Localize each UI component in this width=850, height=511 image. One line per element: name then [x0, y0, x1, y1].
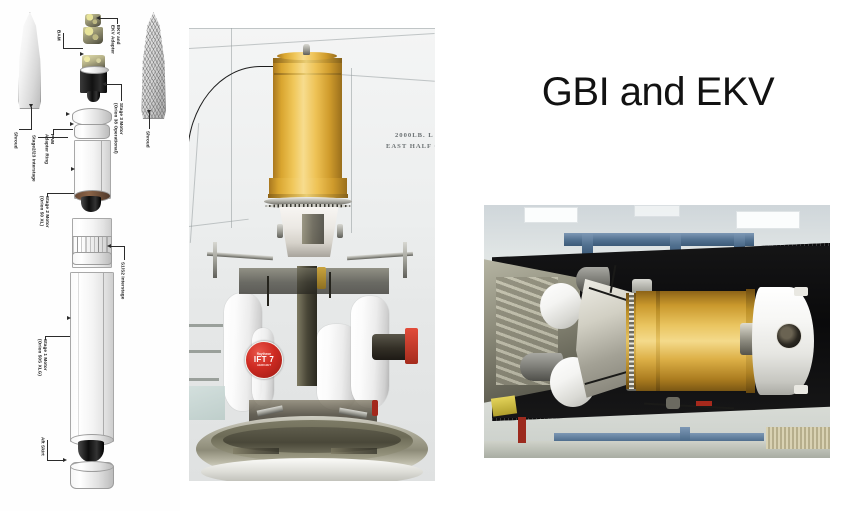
support-post-right — [403, 242, 407, 278]
ceiling-light-3 — [634, 205, 680, 217]
stage1-seam-2 — [78, 273, 79, 439]
badge-bottom-text: AEROJET — [257, 364, 271, 367]
stage1-motor-body — [70, 272, 114, 442]
arrowhead-bam — [80, 52, 84, 56]
ceiling-light-1 — [524, 207, 578, 223]
label-bam: BAM — [56, 30, 62, 41]
arrowhead-ekv — [96, 16, 100, 20]
leader-stage3 — [105, 84, 121, 85]
bus-fitting-right — [337, 224, 343, 238]
harness-cable-2 — [329, 272, 331, 298]
grating-panel — [766, 427, 830, 449]
photo-ekv-kill-vehicle — [484, 205, 830, 458]
gold-canister-body — [636, 291, 754, 391]
stage3-nozzle — [87, 91, 100, 102]
stage1-nozzle — [78, 440, 104, 462]
harness-cable-1 — [267, 276, 269, 306]
stage2-seam — [101, 141, 102, 196]
s1s2-interstage-lowerring — [72, 252, 112, 265]
lower-red-fitting — [372, 400, 378, 416]
leader-aftskirt-v — [47, 440, 48, 460]
arrowhead-stage23 — [66, 112, 70, 116]
leader-shroud-left-v — [31, 107, 32, 130]
label-pam-adapter-ring: PAM Adapter Ring — [44, 134, 55, 164]
label-ekv-and-ekv-adapter: EKV and EKV Adapter — [110, 25, 121, 54]
label-aft-skirt: Aft Skirt — [40, 437, 46, 456]
gold-mid-seam — [656, 291, 660, 391]
seeker-window — [776, 323, 802, 349]
wall-seam-5 — [351, 68, 352, 233]
arrowhead-stage2 — [71, 167, 75, 171]
background-shelf-3 — [189, 378, 219, 381]
gold-canister — [273, 58, 342, 194]
exploded-view-diagram: Shroud Shroud EKV and EKV Adapter BAM St… — [0, 0, 180, 511]
bus-dark-panel-1 — [302, 214, 324, 244]
hoist-hook — [317, 267, 326, 289]
gold-canister-lid-seam — [274, 73, 341, 75]
shroud-right-half — [141, 12, 166, 119]
wall-seam-1 — [189, 28, 435, 29]
background-shelf-2 — [189, 350, 221, 353]
red-ground-strap — [696, 401, 712, 406]
red-stand-leg — [518, 417, 526, 443]
lower-cable-connector — [666, 397, 680, 409]
leader-s1s2-v — [124, 246, 125, 260]
label-stage2-motor: Stage 2 Motor (Orion 50 XL) — [39, 196, 50, 228]
leader-pam — [53, 129, 73, 130]
base-clamp-left — [233, 448, 279, 454]
ift7-badge: Raytheon IFT 7 AEROJET — [245, 341, 283, 379]
label-s1s2-interstage: S1/S2 Interstage — [120, 262, 126, 299]
upper-harness-block — [239, 268, 389, 294]
kv-tank-upper — [540, 283, 582, 329]
background-glass-panel — [189, 386, 225, 420]
leader-bam — [63, 48, 83, 49]
stage23-interstage-body — [74, 124, 110, 139]
stage1-seam — [103, 273, 104, 439]
dome-tab-top — [794, 287, 808, 296]
thruster-red-cap — [405, 328, 418, 364]
wall-text-line2: EAST HALF O — [386, 143, 435, 150]
canister-lift-lug — [303, 44, 310, 55]
leader-stage1 — [45, 336, 70, 337]
leader-shroud-right-v — [149, 113, 150, 129]
ceiling-light-2 — [736, 211, 800, 229]
label-stage23-interstage: Stage2/23 Interstage — [31, 135, 37, 182]
support-post-left — [213, 242, 217, 278]
arrowhead-stage3 — [102, 82, 106, 86]
leader-stage3-v — [121, 84, 122, 101]
gold-bolt-strip — [629, 293, 634, 389]
leader-ekv — [100, 18, 117, 19]
leader-shroud-left — [19, 129, 31, 130]
page-title: GBI and EKV — [508, 70, 808, 114]
arrowhead-shroud-left — [29, 104, 33, 108]
arrowhead-stage1 — [67, 316, 71, 320]
photo-gbi-booster: 2000LB. L EAST HALF O — [189, 28, 435, 481]
blue-rig-post-1 — [582, 233, 593, 255]
leader-bam-v — [63, 33, 64, 49]
base-ring-lip — [201, 458, 423, 481]
label-shroud-right: Shroud — [145, 131, 151, 148]
leader-ekv-v — [117, 18, 118, 24]
dome-tab-bottom — [794, 385, 808, 394]
stage3-top-cap — [80, 66, 109, 74]
arrowhead-s1s2 — [107, 244, 111, 248]
arrowhead-aftskirt — [63, 458, 67, 462]
leader-stage2 — [47, 193, 74, 194]
bus-fitting-left — [277, 224, 283, 238]
label-shroud-left: Shroud — [13, 132, 19, 149]
ekv-adapter — [83, 27, 103, 44]
leader-s1s2 — [110, 246, 124, 247]
label-stage3-motor: Stage 3 Motor (Orion 38 Operational) — [113, 103, 124, 154]
stage2-nozzle — [81, 196, 101, 212]
shroud-left-half — [18, 12, 41, 109]
base-clamp-right — [331, 448, 377, 454]
leader-stage23 — [38, 137, 68, 138]
background-shelf-1 — [189, 324, 223, 327]
slide-canvas: Shroud Shroud EKV and EKV Adapter BAM St… — [0, 0, 850, 511]
label-stage1-motor: Stage 1 Motor (Orion 50S XLG) — [37, 339, 48, 376]
yellow-caution-tag — [491, 395, 517, 416]
arrowhead-pam — [70, 122, 74, 126]
aft-skirt-rim — [70, 461, 114, 472]
arrowhead-shroud-right — [147, 110, 151, 114]
wall-text-line1: 2000LB. L — [395, 132, 434, 139]
